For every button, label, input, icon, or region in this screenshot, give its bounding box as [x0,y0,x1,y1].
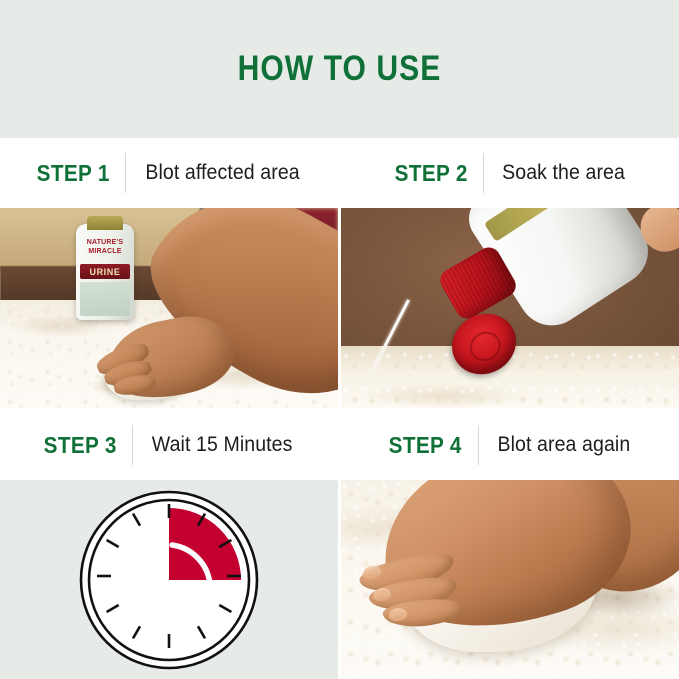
step-1-photo: NATURE'S MIRACLE URINE [0,208,338,408]
step-4-label-bar: STEP 4 Blot area again [341,410,679,480]
step-1-description: Blot affected area [132,161,299,185]
step-2-divider [483,153,484,193]
clock-icon [76,487,262,673]
bottle-brand-text: NATURE'S MIRACLE [81,238,129,258]
step-1-number: STEP 1 [37,160,121,187]
step-3-label-bar: STEP 3 Wait 15 Minutes [0,410,338,480]
step-2-description: Soak the area [489,161,625,185]
step-3-illustration [0,480,338,679]
step-3-description: Wait 15 Minutes [139,433,293,457]
product-bottle: NATURE'S MIRACLE URINE [76,224,134,320]
page-title: HOW TO USE [238,49,442,89]
bottle-lower-label [80,282,130,316]
bottle-cap [87,216,123,230]
step-2-number: STEP 2 [395,160,479,187]
step-1-label-bar: STEP 1 Blot affected area [0,138,338,208]
step-2-photo: NATURE'S MIRACLE [341,208,679,408]
bottle-product-banner: URINE [80,264,130,279]
step-4-description: Blot area again [484,433,630,457]
steps-grid: STEP 1 Blot affected area NATURE'S [0,138,679,679]
step-4-number: STEP 4 [389,432,473,459]
step-3-divider [132,425,133,465]
step-2-label-bar: STEP 2 Soak the area [341,138,679,208]
bottle-gold-band [484,208,590,242]
step-1-divider [125,153,126,193]
steps-column-left: STEP 1 Blot affected area NATURE'S [0,138,338,679]
header-banner: HOW TO USE [0,0,679,138]
step-4-photo [341,480,679,679]
how-to-use-infographic: HOW TO USE STEP 1 Blot affected area [0,0,679,679]
step-3-number: STEP 3 [44,432,128,459]
step-4-divider [478,425,479,465]
steps-column-right: STEP 2 Soak the area NATURE'S MIRACLE [341,138,679,679]
